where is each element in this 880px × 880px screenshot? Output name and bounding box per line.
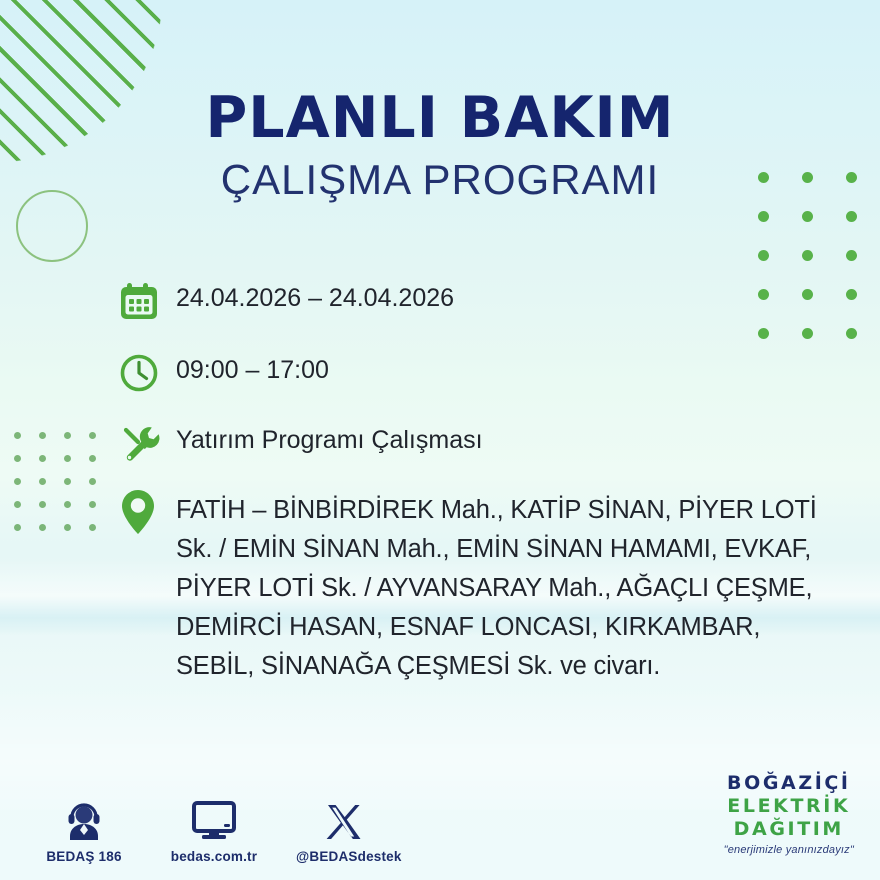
title-primary: PLANLI BAKIM	[0, 88, 880, 148]
detail-row-time: 09:00 – 17:00	[118, 348, 838, 398]
support-agent-icon	[36, 792, 132, 842]
contact-phone[interactable]: BEDAŞ 186	[36, 792, 132, 864]
page-title: PLANLI BAKIM ÇALIŞMA PROGRAMI	[0, 88, 880, 204]
company-logo: BOĞAZİÇİ ELEKTRİK DAĞITIM "enerjimizle y…	[724, 774, 854, 856]
brand-line-2: ELEKTRİK	[724, 797, 854, 816]
x-twitter-icon	[296, 792, 392, 842]
detail-row-work-type: Yatırım Programı Çalışması	[118, 418, 838, 468]
footer: BEDAŞ 186 bedas.com.tr	[0, 750, 880, 880]
maintenance-details: 24.04.2026 – 24.04.2026 09:00 – 17:00	[118, 276, 838, 686]
contact-phone-label: BEDAŞ 186	[36, 849, 132, 864]
planned-maintenance-poster: PLANLI BAKIM ÇALIŞMA PROGRAMI	[0, 0, 880, 880]
location-pin-icon	[118, 488, 176, 538]
detail-row-location: FATİH – BİNBİRDİREK Mah., KATİP SİNAN, P…	[118, 488, 838, 686]
dot-grid-left-decoration	[14, 432, 114, 547]
brand-line-1: BOĞAZİÇİ	[724, 774, 854, 793]
work-type-text: Yatırım Programı Çalışması	[176, 418, 838, 459]
clock-icon	[118, 348, 176, 398]
title-secondary: ÇALIŞMA PROGRAMI	[0, 156, 880, 204]
date-range-text: 24.04.2026 – 24.04.2026	[176, 276, 838, 317]
brand-tagline: "enerjimizle yanınızdayız"	[724, 845, 854, 856]
monitor-icon	[166, 792, 262, 842]
contact-social-x-label: @BEDASdestek	[296, 849, 392, 864]
contact-channels: BEDAŞ 186 bedas.com.tr	[36, 792, 392, 864]
calendar-icon	[118, 276, 176, 326]
contact-social-x[interactable]: @BEDASdestek	[296, 792, 392, 864]
contact-website-label: bedas.com.tr	[166, 849, 262, 864]
contact-website[interactable]: bedas.com.tr	[166, 792, 262, 864]
time-range-text: 09:00 – 17:00	[176, 348, 838, 389]
tools-icon	[118, 418, 176, 468]
detail-row-date: 24.04.2026 – 24.04.2026	[118, 276, 838, 326]
location-text: FATİH – BİNBİRDİREK Mah., KATİP SİNAN, P…	[176, 488, 838, 686]
brand-line-3: DAĞITIM	[724, 820, 854, 839]
